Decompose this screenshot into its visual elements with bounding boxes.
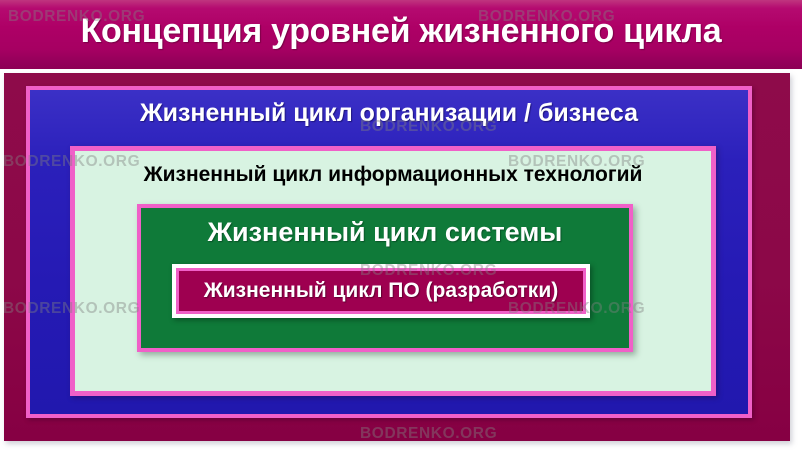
lifecycle-outer-frame: Жизненный цикл организации / бизнеса Жиз… (4, 73, 790, 441)
slide-canvas: Концепция уровней жизненного цикла Жизне… (0, 0, 802, 451)
lifecycle-level-system-label: Жизненный цикл системы (141, 217, 629, 248)
lifecycle-level-system[interactable]: Жизненный цикл системы Жизненный цикл ПО… (137, 204, 633, 352)
lifecycle-level-organization-label: Жизненный цикл организации / бизнеса (30, 99, 748, 128)
lifecycle-level-software[interactable]: Жизненный цикл ПО (разработки) (172, 264, 590, 318)
lifecycle-level-organization[interactable]: Жизненный цикл организации / бизнеса Жиз… (26, 86, 752, 418)
lifecycle-level-information-technology[interactable]: Жизненный цикл информационных технологий… (70, 146, 716, 396)
lifecycle-level-software-label: Жизненный цикл ПО (разработки) (176, 279, 586, 303)
slide-title-bar: Концепция уровней жизненного цикла (0, 0, 802, 69)
lifecycle-level-information-technology-label: Жизненный цикл информационных технологий (75, 163, 711, 187)
page-title: Концепция уровней жизненного цикла (0, 12, 802, 51)
